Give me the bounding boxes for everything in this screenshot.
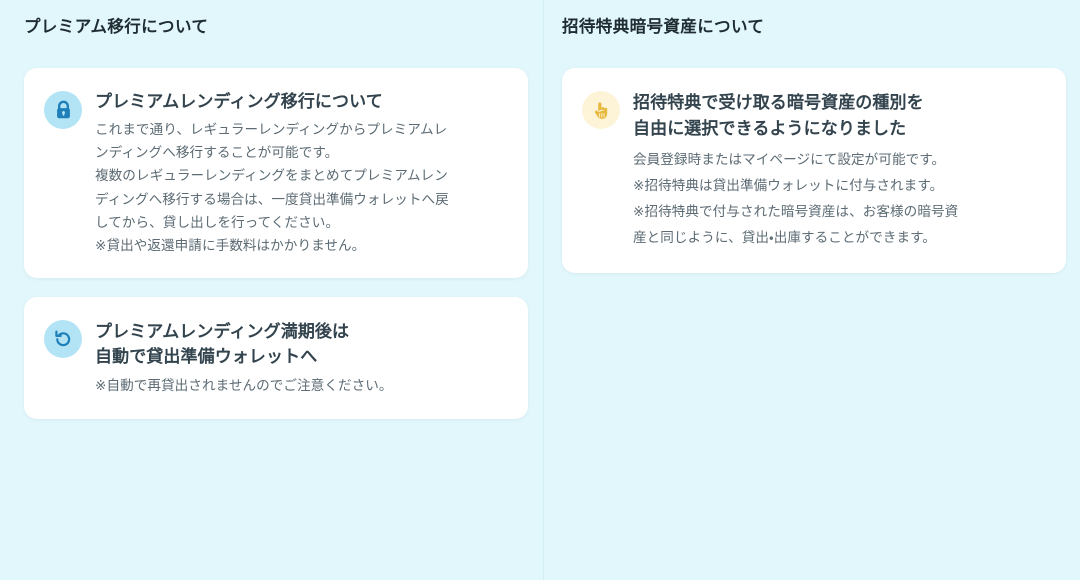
- card-heading: 招待特典で受け取る暗号資産の種別を 自由に選択できるようになりました: [633, 90, 1046, 141]
- card-inner: プレミアムレンディング移行について これまで通り、レギュラーレンディングからプレ…: [36, 90, 508, 257]
- card-body: プレミアムレンディング移行について これまで通り、レギュラーレンディングからプレ…: [95, 90, 508, 257]
- pointing-hand-icon: [582, 91, 620, 129]
- card-heading: プレミアムレンディング満期後は 自動で貸出準備ウォレットへ: [95, 319, 508, 370]
- card-text-line: ※招待特典は貸出準備ウォレットに付与されます。: [633, 173, 1046, 199]
- card-text: これまで通り、レギュラーレンディングからプレミアムレ ンディングへ移行することが…: [95, 118, 508, 258]
- card-invite-bonus-crypto: 招待特典で受け取る暗号資産の種別を 自由に選択できるようになりました 会員登録時…: [562, 68, 1066, 272]
- card-heading-line: プレミアムレンディング満期後は: [95, 319, 508, 345]
- lock-icon: [44, 91, 82, 129]
- info-panels-page: プレミアム移行について プレミアムレンディング移行について: [0, 0, 1080, 580]
- card-inner: プレミアムレンディング満期後は 自動で貸出準備ウォレットへ ※自動で再貸出されま…: [36, 319, 508, 397]
- card-text-line: ※自動で再貸出されませんのでご注意ください。: [95, 374, 508, 397]
- left-column: プレミアム移行について プレミアムレンディング移行について: [0, 0, 540, 580]
- section-title-invite-bonus: 招待特典暗号資産について: [562, 0, 1068, 38]
- card-text-line: これまで通り、レギュラーレンディングからプレミアムレ: [95, 118, 508, 141]
- card-premium-lending-transfer: プレミアムレンディング移行について これまで通り、レギュラーレンディングからプレ…: [24, 68, 528, 277]
- card-heading: プレミアムレンディング移行について: [95, 90, 508, 114]
- card-text-line: 会員登録時またはマイページにて設定が可能です。: [633, 147, 1046, 173]
- card-text-line: 産と同じように、貸出・出庫することができます。: [633, 225, 1046, 251]
- card-text-line: ※貸出や返還申請に手数料はかかりません。: [95, 234, 508, 257]
- section-title-premium-transfer: プレミアム移行について: [24, 0, 528, 38]
- card-inner: 招待特典で受け取る暗号資産の種別を 自由に選択できるようになりました 会員登録時…: [574, 90, 1046, 250]
- card-heading-line: 招待特典で受け取る暗号資産の種別を: [633, 90, 1046, 116]
- right-column: 招待特典暗号資産について 招待特典で受け取る暗号資産の種別を 自由に選択できるよ…: [540, 0, 1080, 580]
- card-text-line: ンディングへ移行することが可能です。: [95, 141, 508, 164]
- card-heading-line: 自由に選択できるようになりました: [633, 116, 1046, 142]
- card-text-line: ディングへ移行する場合は、一度貸出準備ウォレットへ戻: [95, 188, 508, 211]
- card-body: プレミアムレンディング満期後は 自動で貸出準備ウォレットへ ※自動で再貸出されま…: [95, 319, 508, 397]
- card-body: 招待特典で受け取る暗号資産の種別を 自由に選択できるようになりました 会員登録時…: [633, 90, 1046, 250]
- card-text-line: 複数のレギュラーレンディングをまとめてプレミアムレン: [95, 164, 508, 187]
- rotate-left-icon: [44, 320, 82, 358]
- card-text-line: ※招待特典で付与された暗号資産は、お客様の暗号資: [633, 199, 1046, 225]
- card-heading-line: 自動で貸出準備ウォレットへ: [95, 344, 508, 370]
- card-text: 会員登録時またはマイページにて設定が可能です。 ※招待特典は貸出準備ウォレットに…: [633, 147, 1046, 250]
- card-text-line: してから、貸し出しを行ってください。: [95, 211, 508, 234]
- card-heading-line: プレミアムレンディング移行について: [95, 90, 508, 114]
- card-text: ※自動で再貸出されませんのでご注意ください。: [95, 374, 508, 397]
- card-auto-return-wallet: プレミアムレンディング満期後は 自動で貸出準備ウォレットへ ※自動で再貸出されま…: [24, 297, 528, 419]
